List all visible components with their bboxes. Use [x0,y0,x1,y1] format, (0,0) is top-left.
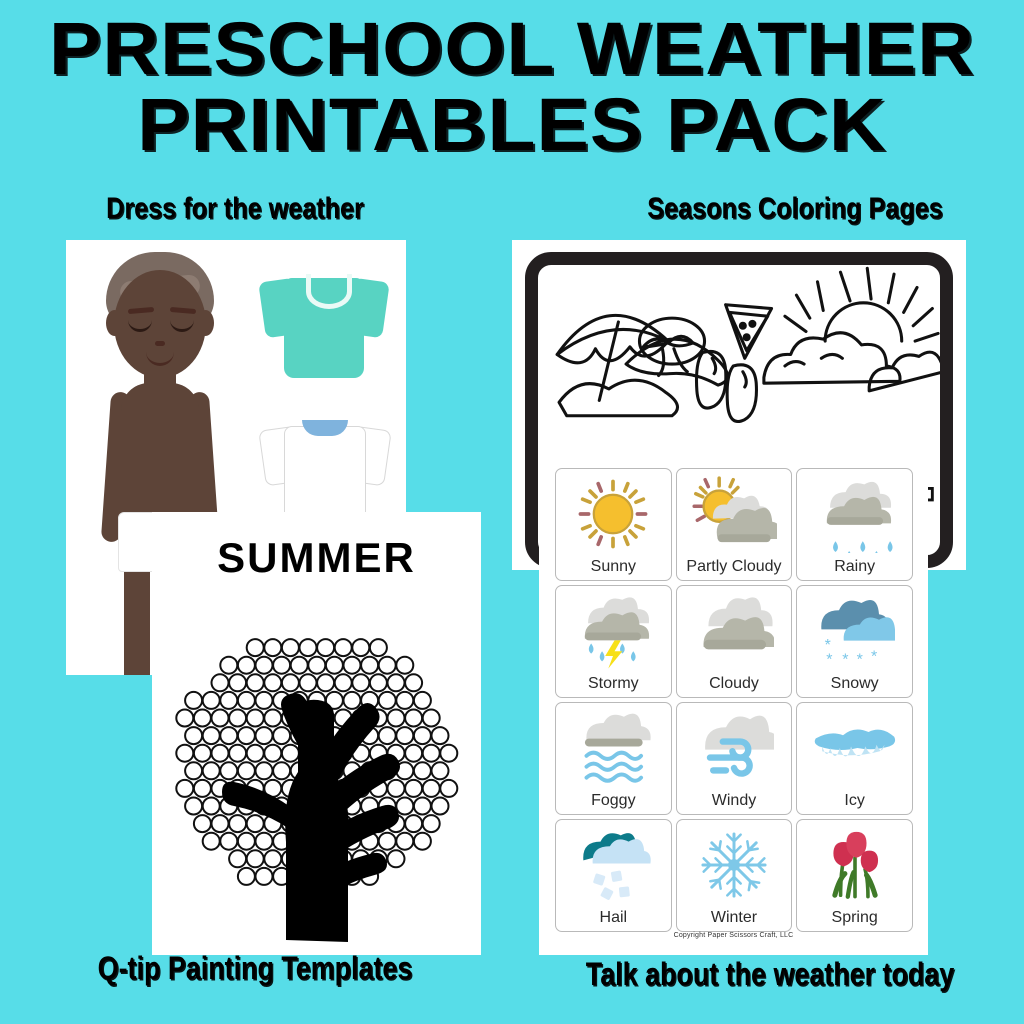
sun-doodle [785,268,938,341]
sand-mound-doodle [559,380,677,416]
cloud-with-rain-icon [797,469,912,558]
weather-card-rainy[interactable]: Rainy [796,468,913,581]
weather-card-label: Hail [600,909,628,927]
sun-behind-cloud-icon [677,469,792,558]
cloud-icon [677,586,792,675]
weather-card-label: Spring [832,909,878,927]
watermelon-doodle [726,305,772,359]
caption-seasons-coloring-pages: Seasons Coloring Pages [598,192,993,226]
qtip-painting-template-panel: SUMMER [152,512,481,955]
weather-card-label: Partly Cloudy [686,558,781,576]
weather-chart-panel: Sunny [539,452,928,955]
title-line-1: PRESCHOOL WEATHER [0,14,1024,84]
weather-card-label: Sunny [591,558,636,576]
cloud-with-hail-icon [556,820,671,909]
green-v-neck-tshirt-cutout [262,266,390,391]
weather-card-label: Snowy [831,675,879,693]
snowflake-icon [677,820,792,909]
weather-cards-grid: Sunny [555,468,913,932]
svg-text:*: * [842,651,848,668]
cloud-with-lightning-and-rain-icon [556,586,671,675]
flip-flops-doodle [697,351,757,421]
weather-card-windy[interactable]: Windy [676,702,793,815]
sun-icon [556,469,671,558]
weather-card-hail[interactable]: Hail [555,819,672,932]
weather-card-label: Rainy [834,558,875,576]
doll-nose [155,341,165,346]
doll-ear-right [197,310,214,336]
weather-card-winter[interactable]: Winter [676,819,793,932]
cloud-doodle-right [764,333,900,383]
weather-card-label: Stormy [588,675,639,693]
weather-card-stormy[interactable]: Stormy [555,585,672,698]
caption-talk-about-the-weather: Talk about the weather today [543,956,997,993]
tulips-icon [797,820,912,909]
weather-card-label: Foggy [591,792,635,810]
weather-card-label: Winter [711,909,757,927]
fog-icon [556,703,671,792]
doll-torso [121,383,199,533]
weather-card-label: Icy [844,792,864,810]
caption-qtip-painting-templates: Q-tip Painting Templates [58,950,453,987]
cloud-doodle-far-right [869,352,940,391]
weather-card-icy: Icy [796,702,913,815]
dotted-tree-template [166,592,466,942]
weather-card-partly-cloudy[interactable]: Partly Cloudy [676,468,793,581]
caption-dress-for-the-weather: Dress for the weather [38,192,433,226]
wind-icon [677,703,792,792]
svg-text:*: * [826,651,832,668]
weather-card-sunny[interactable]: Sunny [555,468,672,581]
title-line-2: PRINTABLES PACK [0,90,1024,160]
tshirt-v-collar [306,274,352,309]
weather-card-snowy[interactable]: ** *** Snowy [796,585,913,698]
tshirt-body [284,426,366,524]
weather-card-label: Cloudy [709,675,759,693]
cloud-with-snow-icon: ** *** [797,586,912,675]
copyright-notice: Copyright Paper Scissors Craft, LLC [539,932,928,939]
svg-text:*: * [871,648,877,665]
svg-text:*: * [856,651,862,668]
qtip-season-title: SUMMER [152,534,481,582]
weather-card-cloudy[interactable]: Cloudy [676,585,793,698]
weather-card-label: Windy [712,792,756,810]
weather-card-foggy[interactable]: Foggy [555,702,672,815]
page-title: PRESCHOOL WEATHER PRINTABLES PACK [0,14,1024,161]
ice-icon [797,703,912,792]
doll-leg-left [124,562,150,675]
weather-card-spring[interactable]: Spring [796,819,913,932]
printables-pack-graphic: PRESCHOOL WEATHER PRINTABLES PACK Dress … [0,0,1024,1024]
doll-ear-left [106,310,123,336]
